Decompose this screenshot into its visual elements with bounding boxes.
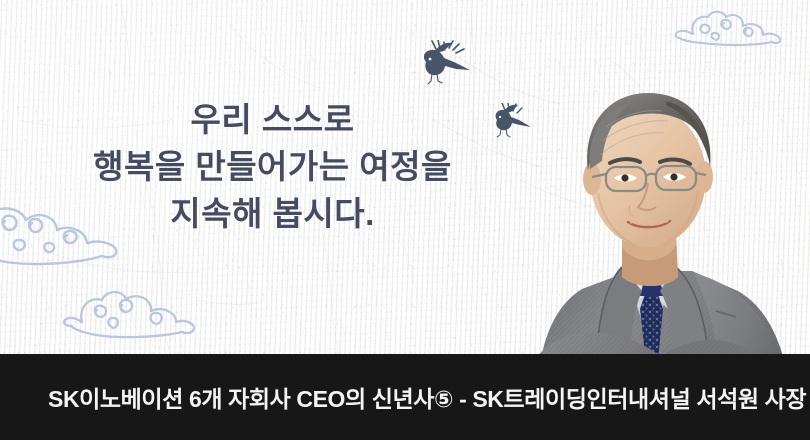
new-year-message-banner: 우리 스스로 행복을 만들어가는 여정을 지속해 봅시다.: [0, 0, 810, 440]
caption-title: SK이노베이션 6개 자회사 CEO의 신년사⑤ - SK트레이딩인터내셔널 서…: [48, 354, 806, 440]
caption-bar: SK이노베이션 6개 자회사 CEO의 신년사⑤ - SK트레이딩인터내셔널 서…: [0, 354, 810, 440]
quote-line-2: 행복을 만들어가는 여정을: [0, 143, 545, 190]
quote-block: 우리 스스로 행복을 만들어가는 여정을 지속해 봅시다.: [0, 96, 545, 237]
portrait-head: [583, 93, 713, 247]
quote-line-1: 우리 스스로: [0, 96, 545, 143]
quote-line-3: 지속해 봅시다.: [0, 190, 545, 237]
